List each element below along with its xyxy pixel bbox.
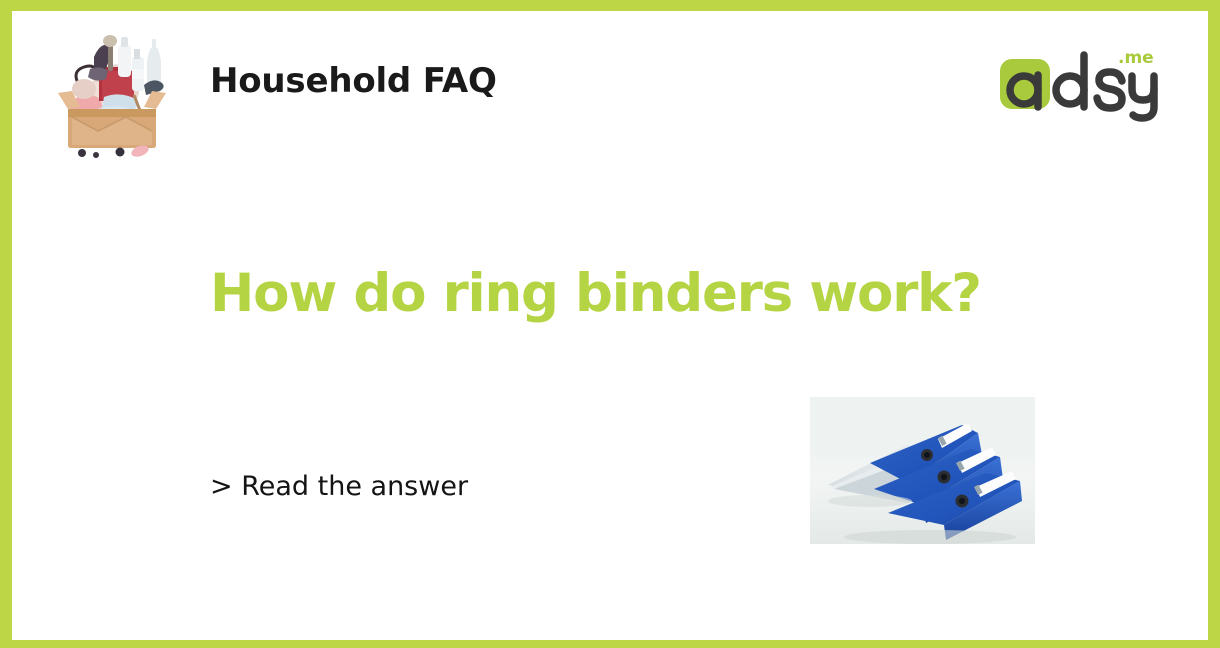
question-heading: How do ring binders work? (210, 265, 1090, 323)
ring-binders-photo (810, 397, 1035, 544)
page-root: Household FAQ (0, 0, 1220, 648)
logo-suffix: .me (1118, 48, 1154, 68)
adsy-logo[interactable]: .me (998, 45, 1163, 125)
household-box-illustration (48, 23, 176, 158)
page-header: Household FAQ (12, 11, 1208, 161)
read-answer-link[interactable]: > Read the answer (210, 471, 468, 502)
page-content-area: Household FAQ (12, 11, 1208, 640)
page-main: How do ring binders work? > Read the ans… (12, 161, 1208, 640)
page-title: Household FAQ (210, 61, 497, 101)
